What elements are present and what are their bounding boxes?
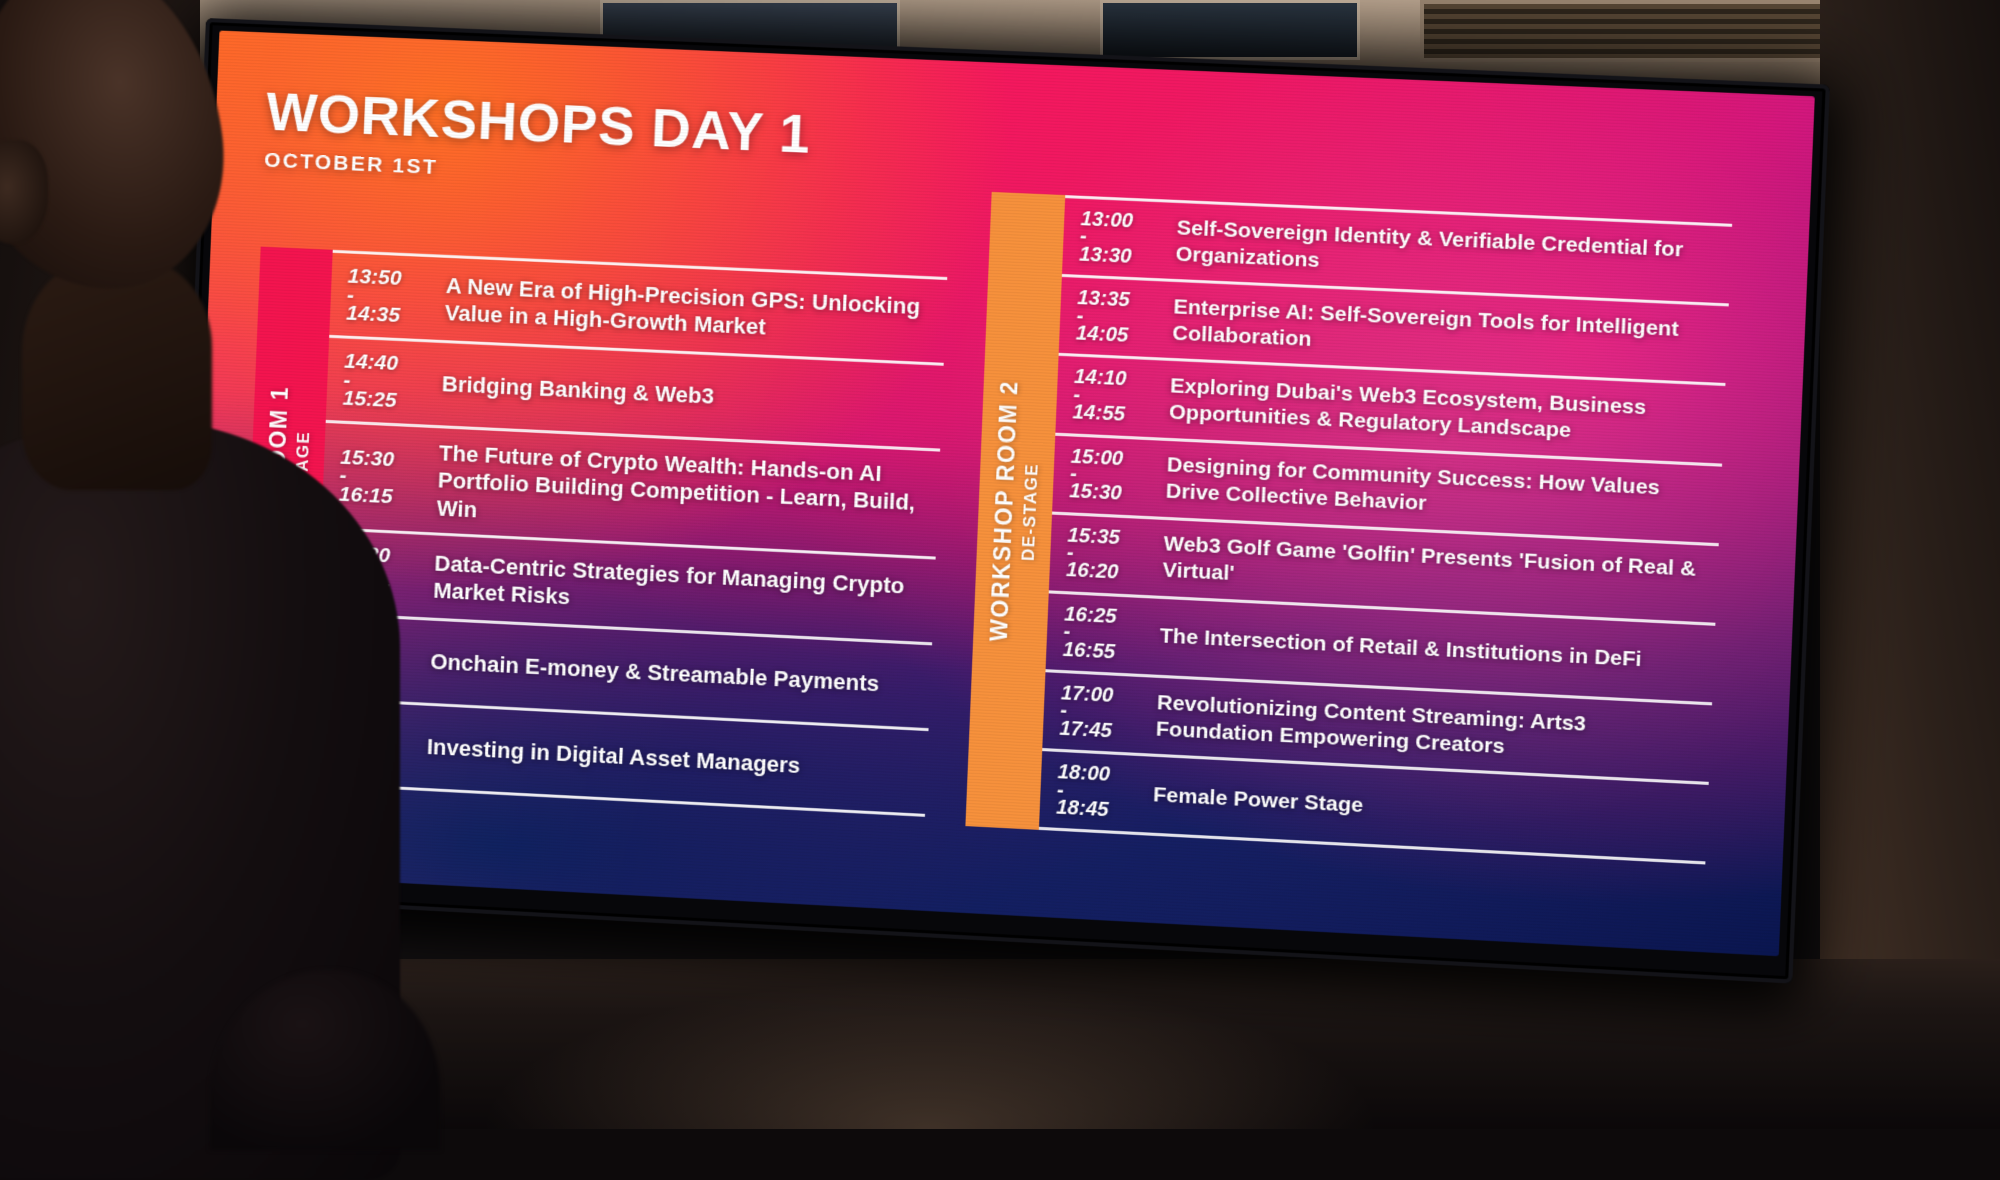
room-1-session-list: 13:50 - 14:35 A New Era of High-Precisio… [311, 250, 948, 817]
session-end: 14:05 [1075, 322, 1128, 347]
session-start: 13:50 [347, 265, 402, 290]
session-start: 15:35 [1067, 524, 1120, 549]
room-2-session-list: 13:00 - 13:30 Self-Sovereign Identity & … [1039, 195, 1732, 865]
session-time: 13:35 - 14:05 [1059, 286, 1160, 348]
schedule-columns: WORKSHOP ROOM 1 PROOF-OF-STAGE 13:50 - 1… [185, 31, 1815, 957]
session-time: 14:40 - 15:25 [326, 349, 429, 414]
ceiling-vent [1420, 0, 1860, 62]
session-time: 13:50 - 14:35 [330, 264, 433, 329]
session-time: 18:00 - 18:45 [1039, 760, 1140, 823]
session-time: 16:25 - 16:55 [1046, 602, 1147, 665]
session-title: Investing in Digital Asset Managers [412, 733, 921, 786]
session-time: 13:00 - 13:30 [1062, 207, 1163, 269]
room-1-name: WORKSHOP ROOM 1 [256, 385, 294, 645]
session-start: 14:10 [1074, 366, 1127, 391]
session-end: 15:30 [1069, 480, 1122, 505]
session-title: Enterprise AI: Self-Sovereign Tools for … [1157, 293, 1721, 371]
session-start: 18:00 [329, 712, 384, 738]
session-title: Designing for Community Success: How Val… [1151, 451, 1715, 530]
session-time: 15:00 - 15:30 [1053, 444, 1154, 506]
session-time: 17:10 - 17:55 [315, 626, 418, 691]
session-start: 16:20 [336, 542, 391, 568]
session-time: 18:00 - 18:40 [311, 711, 414, 776]
session-title: Exploring Dubai's Web3 Ecosystem, Busine… [1154, 372, 1718, 451]
session-end: 13:30 [1079, 243, 1132, 268]
schedule-slide: WORKSHOPS DAY 1 OCTOBER 1ST WORKSHOP ROO… [185, 31, 1815, 957]
session-start: 17:00 [1061, 682, 1114, 707]
session-start: 13:35 [1077, 287, 1130, 312]
session-end: 14:55 [1072, 401, 1125, 426]
session-title: Data-Centric Strategies for Managing Cry… [419, 548, 929, 628]
session-start: 14:40 [344, 350, 399, 375]
session-time: 17:00 - 17:45 [1043, 681, 1144, 744]
session-end: 15:25 [342, 386, 397, 412]
session-start: 18:00 [1057, 761, 1110, 786]
session-time: 14:10 - 14:55 [1056, 365, 1157, 427]
session-title: A New Era of High-Precision GPS: Unlocki… [430, 271, 940, 349]
slide-screen: WORKSHOPS DAY 1 OCTOBER 1ST WORKSHOP ROO… [185, 31, 1815, 957]
session-end: 16:20 [1066, 559, 1119, 584]
session-start: 17:10 [332, 627, 387, 653]
window-right [1100, 0, 1360, 60]
display-screen-tv: WORKSHOPS DAY 1 OCTOBER 1ST WORKSHOP ROO… [170, 18, 1830, 984]
session-time: 15:30 - 16:15 [322, 445, 425, 510]
session-end: 17:45 [1059, 717, 1112, 742]
session-title: Female Power Stage [1138, 781, 1701, 836]
session-end: 14:35 [346, 301, 401, 326]
session-title: The Future of Crypto Wealth: Hands-on AI… [422, 439, 933, 545]
session-end: 18:45 [1056, 796, 1109, 821]
session-start: 13:00 [1080, 208, 1133, 233]
session-start: 15:00 [1070, 445, 1123, 470]
room-2-stage: DE-STAGE [1018, 462, 1043, 561]
session-title: The Intersection of Retail & Institution… [1145, 623, 1708, 677]
room-2-name: WORKSHOP ROOM 2 [985, 379, 1023, 642]
session-title: Self-Sovereign Identity & Verifiable Cre… [1161, 214, 1725, 291]
session-end: 17:05 [334, 578, 389, 604]
session-time: 16:20 - 17:05 [318, 541, 421, 606]
session-title: Bridging Banking & Web3 [427, 370, 936, 421]
column-room-2: WORKSHOP ROOM 2 DE-STAGE 13:00 - 13:30 S… [965, 192, 1732, 865]
session-start: 16:25 [1064, 603, 1117, 628]
session-start: 15:30 [340, 446, 395, 472]
session-end: 16:55 [1062, 638, 1115, 663]
column-room-1: WORKSHOP ROOM 1 PROOF-OF-STAGE 13:50 - 1… [239, 247, 948, 817]
session-end: 18:40 [327, 748, 382, 774]
session-end: 16:15 [338, 482, 393, 508]
session-time: 15:35 - 16:20 [1049, 523, 1150, 586]
session-title: Onchain E-money & Streamable Payments [416, 647, 925, 700]
floor-glow [480, 979, 1380, 1129]
session-end: 17:55 [331, 663, 386, 689]
